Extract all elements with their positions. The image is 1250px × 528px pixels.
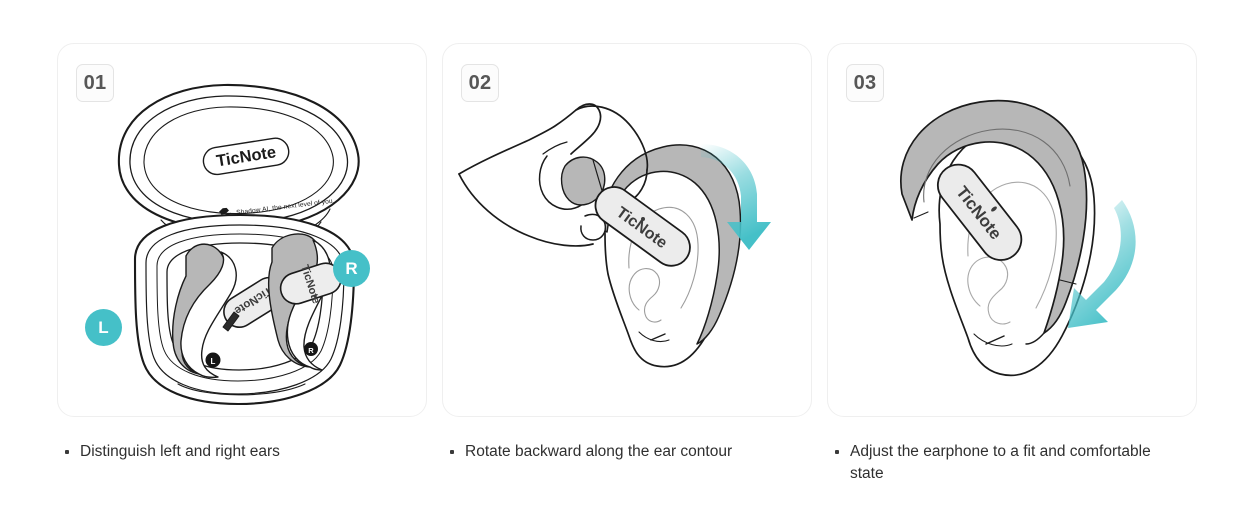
step-number-badge-03: 03 (846, 64, 884, 102)
left-earbud-mark: L (211, 357, 216, 366)
illustration-card-02: 02 (442, 43, 812, 417)
bullet-icon (450, 450, 454, 454)
case-base: TicNote L Tic (135, 215, 354, 404)
step-caption-01: Distinguish left and right ears (57, 441, 427, 463)
right-earbud-badge: R (333, 250, 370, 287)
charging-case-illustration: TicNote Shadow AI, the next level of you… (58, 44, 427, 417)
wearing-guide-container: 01 TicNote (0, 0, 1250, 528)
step-caption-text-02: Rotate backward along the ear contour (465, 441, 732, 463)
step-card-02: 02 (442, 43, 812, 463)
earphone-worn-illustration: TicNote (828, 44, 1197, 417)
left-earbud-badge-label: L (98, 318, 108, 338)
step-caption-text-03: Adjust the earphone to a fit and comfort… (850, 441, 1168, 486)
bullet-icon (835, 450, 839, 454)
bullet-icon (65, 450, 69, 454)
left-earbud-badge: L (85, 309, 122, 346)
step-number-badge-02: 02 (461, 64, 499, 102)
right-earbud-mark: R (308, 346, 314, 355)
step-card-01: 01 TicNote (57, 43, 427, 463)
step-card-03: 03 (827, 43, 1197, 486)
step-caption-03: Adjust the earphone to a fit and comfort… (827, 441, 1197, 486)
step-caption-text-01: Distinguish left and right ears (80, 441, 280, 463)
hand-placing-earphone-illustration: TicNote (443, 44, 812, 417)
step-number-badge-01: 01 (76, 64, 114, 102)
step-caption-02: Rotate backward along the ear contour (442, 441, 812, 463)
right-earbud-badge-label: R (345, 259, 357, 279)
illustration-card-03: 03 (827, 43, 1197, 417)
illustration-card-01: 01 TicNote (57, 43, 427, 417)
